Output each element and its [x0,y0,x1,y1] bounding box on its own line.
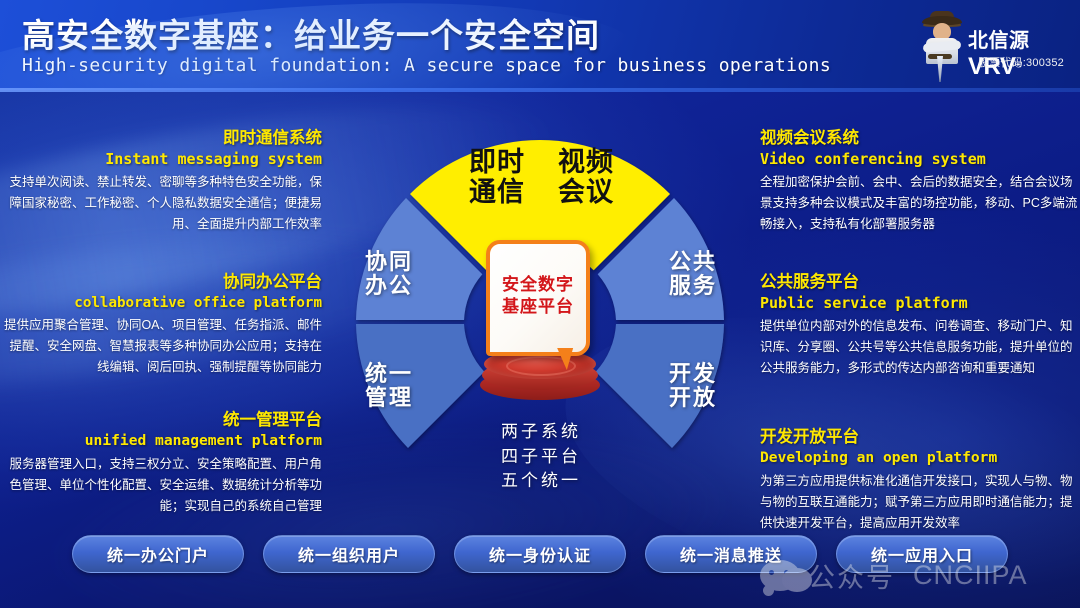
block-body: 支持单次阅读、禁止转发、密聊等多种特色安全功能，保障国家秘密、工作秘密、个人隐私… [2,172,322,235]
pill-unified-identity-auth[interactable]: 统一身份认证 [454,535,626,573]
emblem-line-1: 安全数字 [502,275,574,294]
segment-label-collaborative-office[interactable]: 协同办公 [358,250,420,298]
segment-label-unified-management[interactable]: 统一管理 [358,362,420,410]
pill-unified-message-push[interactable]: 统一消息推送 [645,535,817,573]
block-title-en: Instant messaging system [2,150,322,170]
info-block-collaborative-office: 协同办公平台 collaborative office platform 提供应… [2,272,322,378]
block-title-cn: 统一管理平台 [2,410,322,431]
block-body: 全程加密保护会前、会中、会后的数据安全，结合会议场景支持多种会议模式及丰富的场控… [760,172,1080,235]
block-title-cn: 即时通信系统 [2,128,322,149]
logo-figure-icon [920,10,964,80]
block-body: 为第三方应用提供标准化通信开发接口，实现人与物、物与物的互联互通能力；赋予第三方… [760,471,1080,534]
emblem-card: 安全数字 基座平台 [486,240,590,356]
segment-label-video-conferencing[interactable]: 视频会议 [543,148,629,207]
pill-unified-office-portal[interactable]: 统一办公门户 [72,535,244,573]
page-subtitle: High-security digital foundation: A secu… [22,55,831,76]
info-block-development-open: 开发开放平台 Developing an open platform 为第三方应… [760,427,1080,534]
block-title-en: collaborative office platform [2,294,322,312]
bottom-pill-bar: 统一办公门户 统一组织用户 统一身份认证 统一消息推送 统一应用入口 [0,535,1080,575]
emblem-line-2: 基座平台 [502,297,574,316]
block-body: 服务器管理入口，支持三权分立、安全策略配置、用户角色管理、单位个性化配置、安全运… [2,454,322,517]
info-block-unified-management: 统一管理平台 unified management platform 服务器管理… [2,410,322,517]
slide-root: 高安全数字基座：给业务一个安全空间 High-security digital … [0,0,1080,608]
block-body: 提供单位内部对外的信息发布、问卷调查、移动门户、知识库、分享圈、公共号等公共信息… [760,316,1080,379]
block-title-en: Public service platform [760,294,1080,314]
segment-label-public-service[interactable]: 公共服务 [662,250,724,298]
page-title: 高安全数字基座：给业务一个安全空间 [22,9,600,57]
donut-footer-line-3: 五个统一 [456,469,626,494]
block-title-en: unified management platform [2,432,322,451]
logo-stock-code: 股票代码:300352 [978,54,1064,70]
segment-label-development-open[interactable]: 开发开放 [662,362,724,410]
logo-wordmark: 北信源VRV® [968,24,1066,81]
info-block-video-conferencing: 视频会议系统 Video conferencing system 全程加密保护会… [760,128,1080,235]
donut-footer-line-2: 四子平台 [456,445,626,470]
block-title-cn: 视频会议系统 [760,128,1080,149]
donut-footer-lines: 两子系统 四子平台 五个统一 [456,420,626,494]
block-title-cn: 开发开放平台 [760,427,1080,448]
emblem-text: 安全数字 基座平台 [490,274,586,318]
pill-unified-org-users[interactable]: 统一组织用户 [263,535,435,573]
block-title-cn: 协同办公平台 [2,272,322,293]
logo-brand-cn: 北信源 [968,30,1030,52]
platform-donut-diagram: 即时通信 视频会议 协同办公 统一管理 公共服务 开发开放 安全数字 基座平台 … [336,120,744,520]
company-logo: 北信源VRV® 股票代码:300352 [916,8,1066,82]
donut-footer-line-1: 两子系统 [456,420,626,445]
pill-unified-app-entry[interactable]: 统一应用入口 [836,535,1008,573]
block-title-en: Video conferencing system [760,150,1080,170]
block-body: 提供应用聚合管理、协同OA、项目管理、任务指派、邮件提醒、安全网盘、智慧报表等多… [2,315,322,378]
block-title-cn: 公共服务平台 [760,272,1080,293]
block-title-en: Developing an open platform [760,449,1080,468]
segment-label-instant-messaging[interactable]: 即时通信 [454,148,540,207]
page-header: 高安全数字基座：给业务一个安全空间 High-security digital … [0,0,1080,90]
header-divider [0,88,1080,92]
info-block-instant-messaging: 即时通信系统 Instant messaging system 支持单次阅读、禁… [2,128,322,235]
center-emblem: 安全数字 基座平台 [474,238,606,408]
info-block-public-service: 公共服务平台 Public service platform 提供单位内部对外的… [760,272,1080,379]
